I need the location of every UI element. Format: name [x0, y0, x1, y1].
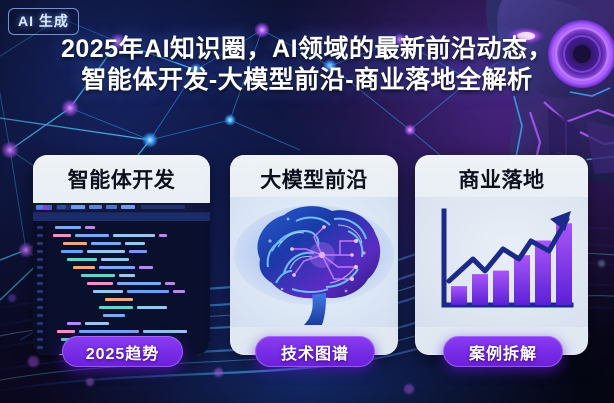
menu-chip [106, 205, 117, 209]
card-commercial-landing[interactable]: 商业落地 [415, 155, 588, 355]
page-title: 2025年AI知识圈，AI领域的最新前沿动态， 智能体开发-大模型前沿-商业落地… [0, 34, 614, 96]
poster-canvas: AI 生成 2025年AI知识圈，AI领域的最新前沿动态， 智能体开发-大模型前… [0, 0, 614, 403]
pill-case-breakdown[interactable]: 案例拆解 [443, 336, 563, 367]
menu-chip [89, 205, 102, 209]
bar-chart-icon [415, 197, 588, 327]
brain-icon [230, 197, 398, 327]
bar [451, 286, 467, 305]
growth-chart [415, 197, 588, 327]
pill-tech-map[interactable]: 技术图谱 [255, 336, 375, 367]
card-agent-development[interactable]: 智能体开发 [33, 155, 210, 355]
bar [472, 274, 488, 305]
menu-chip [57, 205, 66, 209]
card-title: 智能体开发 [33, 155, 210, 193]
pill-2025-trend[interactable]: 2025趋势 [62, 336, 183, 367]
brain-stage [230, 197, 398, 327]
menu-chip [36, 205, 43, 209]
card-title: 大模型前沿 [230, 155, 398, 193]
code-editor-menubar [33, 213, 210, 221]
code-editor-screenshot [33, 203, 210, 355]
card-large-model-frontier[interactable]: 大模型前沿 [230, 155, 398, 355]
menu-chip [47, 205, 52, 209]
title-line-1: 2025年AI知识圈，AI领域的最新前沿动态， [0, 34, 614, 65]
bar [514, 255, 530, 305]
bar [493, 271, 509, 305]
ai-generated-badge: AI 生成 [8, 8, 79, 35]
menu-chip [71, 205, 85, 209]
card-title: 商业落地 [415, 155, 588, 193]
code-editor-body [33, 221, 210, 355]
code-gutter [33, 221, 47, 355]
menu-chip [121, 205, 135, 209]
menu-chip [141, 205, 185, 209]
cards-row: 智能体开发 [0, 155, 614, 360]
title-line-2: 智能体开发-大模型前沿-商业落地全解析 [0, 65, 614, 96]
